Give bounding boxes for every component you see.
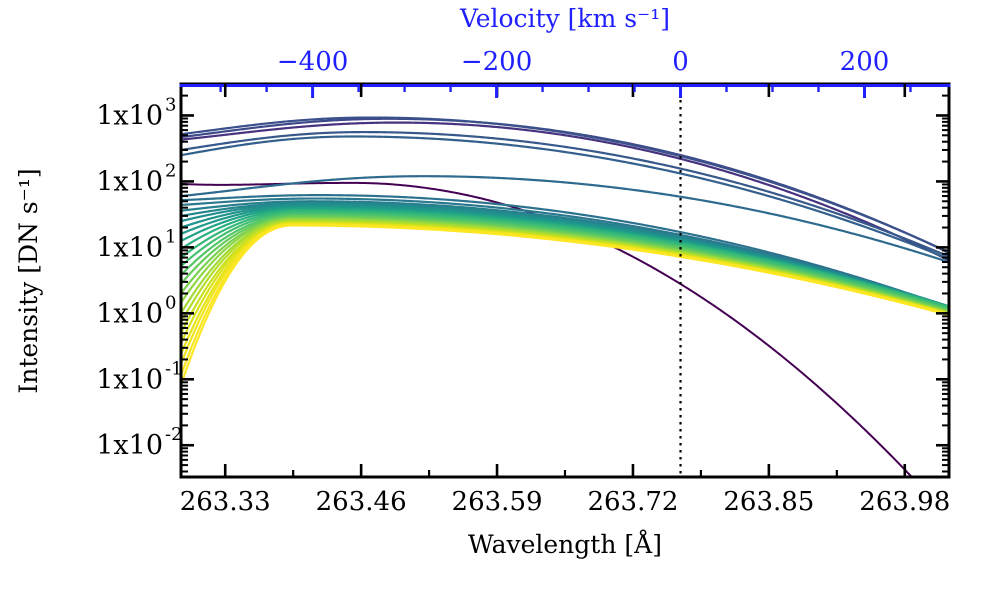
svg-text:3: 3 — [165, 94, 176, 115]
x-tick-label: 263.85 — [723, 487, 814, 517]
top-tick-label: 0 — [672, 47, 689, 77]
y-tick-label: 1x100 — [96, 292, 176, 329]
x-tick-label: 263.46 — [316, 487, 407, 517]
svg-text:1x10: 1x10 — [96, 166, 163, 197]
y-tick-label: 1x101 — [96, 226, 176, 263]
x-axis-ticklabels-group: 263.33263.46263.59263.72263.85263.98 — [180, 487, 951, 517]
top-tick-label: 200 — [840, 47, 890, 77]
svg-text:1: 1 — [165, 226, 176, 247]
figure-root: 263.33263.46263.59263.72263.85263.98 1x1… — [0, 0, 1000, 600]
top-tick-label: −200 — [461, 47, 532, 77]
x-tick-label: 263.98 — [859, 487, 950, 517]
svg-text:1x10: 1x10 — [96, 364, 163, 395]
y-axis-title: Intensity [DN s⁻¹] — [14, 168, 43, 393]
y-axis-ticklabels-group: 1x1031x1021x1011x1001x10-11x10-2 — [96, 94, 182, 461]
svg-text:1x10: 1x10 — [96, 430, 163, 461]
x-tick-label: 263.33 — [180, 487, 271, 517]
top-axis-title: Velocity [km s⁻¹] — [459, 4, 670, 33]
spectral-line-plot: 263.33263.46263.59263.72263.85263.98 1x1… — [0, 0, 1000, 600]
svg-text:1x10: 1x10 — [96, 100, 163, 131]
x-tick-label: 263.72 — [587, 487, 678, 517]
y-tick-label: 1x10-1 — [96, 358, 182, 395]
svg-text:2: 2 — [165, 160, 176, 181]
x-axis-title: Wavelength [Å] — [468, 529, 662, 559]
x-tick-label: 263.59 — [452, 487, 543, 517]
y-tick-label: 1x10-2 — [96, 424, 182, 461]
top-tick-label: −400 — [277, 47, 348, 77]
y-tick-label: 1x102 — [96, 160, 176, 197]
svg-text:1x10: 1x10 — [96, 298, 163, 329]
y-tick-label: 1x103 — [96, 94, 176, 131]
svg-text:-2: -2 — [165, 424, 183, 445]
svg-text:1x10: 1x10 — [96, 232, 163, 263]
svg-text:-1: -1 — [165, 358, 183, 379]
top-axis-ticklabels-group: −400−2000200 — [277, 47, 889, 77]
svg-text:0: 0 — [165, 292, 176, 313]
